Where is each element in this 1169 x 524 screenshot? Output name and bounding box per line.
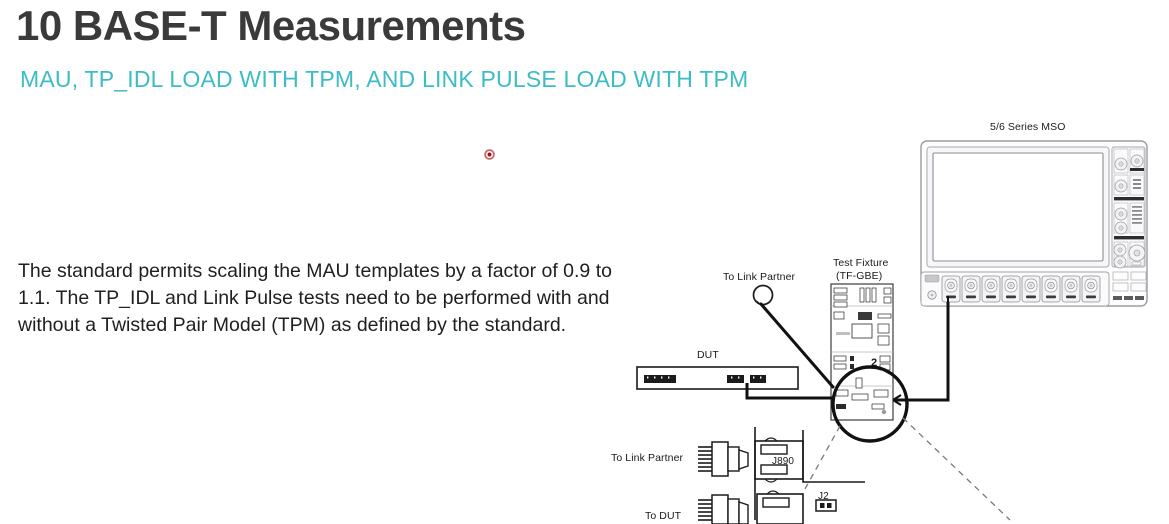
dut-switch [637, 367, 798, 389]
scope-channel-inputs [942, 276, 1100, 302]
dut-label: DUT [697, 349, 719, 361]
test-fixture-label-line1: Test Fixture [833, 257, 888, 269]
page-title: 10 BASE-T Measurements [16, 2, 526, 50]
cable-dut-to-fixture [747, 383, 833, 398]
cable-link-partner-to-fixture [761, 304, 833, 387]
body-paragraph: The standard permits scaling the MAU tem… [18, 258, 618, 339]
test-fixture-label-line2: (TF-GBE) [836, 270, 882, 282]
link-partner-label-bottom: To Link Partner [611, 452, 683, 464]
to-dut-label: To DUT [645, 510, 681, 522]
oscilloscope [921, 141, 1147, 306]
cable-fixture-to-scope [893, 302, 948, 405]
link-partner-label-top: To Link Partner [723, 271, 795, 283]
rj45-port-icon [754, 286, 773, 306]
red-cursor-dot-icon [484, 149, 495, 160]
connector-detail-j890 [698, 427, 865, 520]
connector-j2-label: J2 [818, 491, 829, 502]
connector-detail-j890-lower [698, 491, 803, 524]
test-fixture-pcb: 2 [831, 284, 893, 420]
oscilloscope-label: 5/6 Series MSO [990, 121, 1066, 133]
svg-text:2: 2 [871, 357, 877, 369]
zoom-callout-circle [800, 367, 1010, 520]
page-subtitle: MAU, TP_IDL LOAD WITH TPM, AND LINK PULS… [20, 66, 748, 93]
connector-j890-label: J890 [772, 456, 794, 467]
